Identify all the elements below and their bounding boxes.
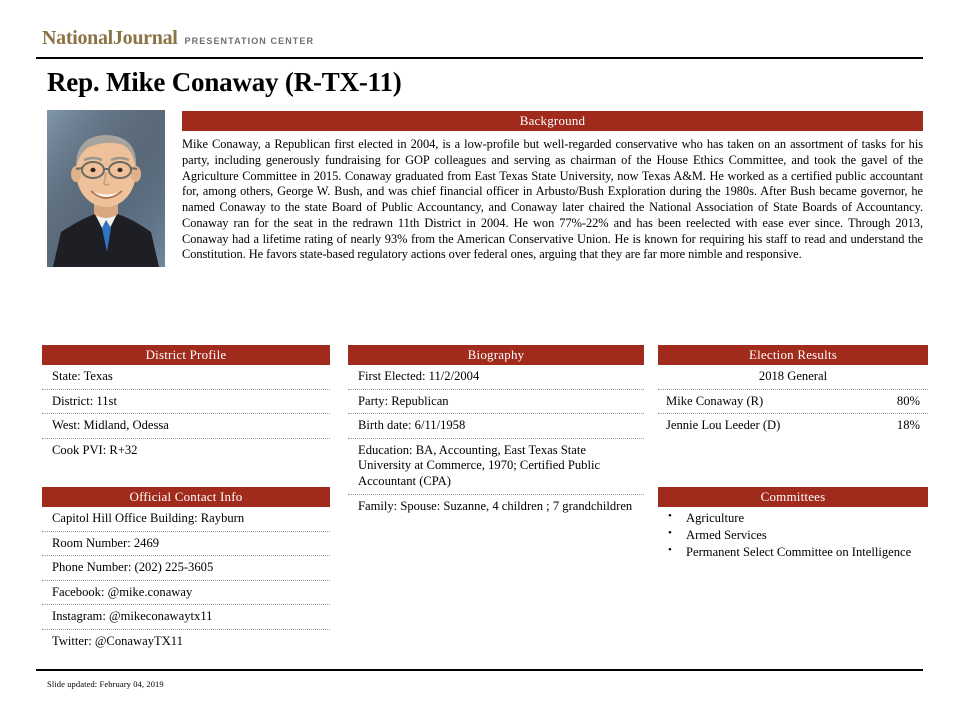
committees-panel: Committees Agriculture Armed Services Pe…: [658, 487, 928, 562]
brand-logo: NationalJournal PRESENTATION CENTER: [42, 28, 314, 48]
list-item: Agriculture: [658, 511, 928, 527]
background-header: Background: [182, 111, 923, 131]
portrait-image: [47, 110, 165, 267]
contact-info-rows: Capitol Hill Office Building: Rayburn Ro…: [42, 507, 330, 654]
list-item: Phone Number: (202) 225-3605: [42, 556, 330, 581]
logo-subtitle: PRESENTATION CENTER: [185, 37, 315, 46]
election-results-rows: 2018 General Mike Conaway (R) 80% Jennie…: [658, 365, 928, 438]
committees-header: Committees: [658, 487, 928, 507]
candidate-percent: 18%: [887, 418, 920, 434]
district-profile-rows: State: Texas District: 11st West: Midlan…: [42, 365, 330, 462]
avatar: [47, 110, 165, 267]
list-item: Permanent Select Committee on Intelligen…: [658, 545, 928, 561]
list-item: Twitter: @ConawayTX11: [42, 630, 330, 654]
background-text: Mike Conaway, a Republican first elected…: [182, 137, 923, 263]
list-item: Family: Spouse: Suzanne, 4 children ; 7 …: [348, 495, 644, 519]
election-cycle-label: 2018 General: [658, 365, 928, 390]
district-profile-header: District Profile: [42, 345, 330, 365]
list-item: Education: BA, Accounting, East Texas St…: [348, 439, 644, 495]
background-panel: Background Mike Conaway, a Republican fi…: [182, 111, 923, 263]
list-item: West: Midland, Odessa: [42, 414, 330, 439]
candidate-name: Mike Conaway (R): [666, 394, 763, 410]
biography-rows: First Elected: 11/2/2004 Party: Republic…: [348, 365, 644, 518]
list-item: Armed Services: [658, 528, 928, 544]
district-profile-panel: District Profile State: Texas District: …: [42, 345, 330, 462]
list-item: Facebook: @mike.conaway: [42, 581, 330, 606]
biography-header: Biography: [348, 345, 644, 365]
slide-updated-label: Slide updated: February 04, 2019: [47, 679, 164, 689]
list-item: First Elected: 11/2/2004: [348, 365, 644, 390]
contact-info-header: Official Contact Info: [42, 487, 330, 507]
footer-divider: [36, 669, 923, 671]
list-item: Birth date: 6/11/1958: [348, 414, 644, 439]
table-row: Jennie Lou Leeder (D) 18%: [658, 414, 928, 438]
biography-panel: Biography First Elected: 11/2/2004 Party…: [348, 345, 644, 518]
list-item: Party: Republican: [348, 390, 644, 415]
table-row: Mike Conaway (R) 80%: [658, 390, 928, 415]
election-results-panel: Election Results 2018 General Mike Conaw…: [658, 345, 928, 438]
list-item: District: 11st: [42, 390, 330, 415]
logo-wordmark: NationalJournal: [42, 28, 178, 48]
header-divider: [36, 57, 923, 59]
list-item: Room Number: 2469: [42, 532, 330, 557]
list-item: State: Texas: [42, 365, 330, 390]
list-item: Capitol Hill Office Building: Rayburn: [42, 507, 330, 532]
committees-list: Agriculture Armed Services Permanent Sel…: [658, 511, 928, 561]
list-item: Cook PVI: R+32: [42, 439, 330, 463]
candidate-percent: 80%: [887, 394, 920, 410]
list-item: Instagram: @mikeconawaytx11: [42, 605, 330, 630]
election-results-header: Election Results: [658, 345, 928, 365]
contact-info-panel: Official Contact Info Capitol Hill Offic…: [42, 487, 330, 654]
page-title: Rep. Mike Conaway (R-TX-11): [47, 66, 402, 98]
candidate-name: Jennie Lou Leeder (D): [666, 418, 780, 434]
